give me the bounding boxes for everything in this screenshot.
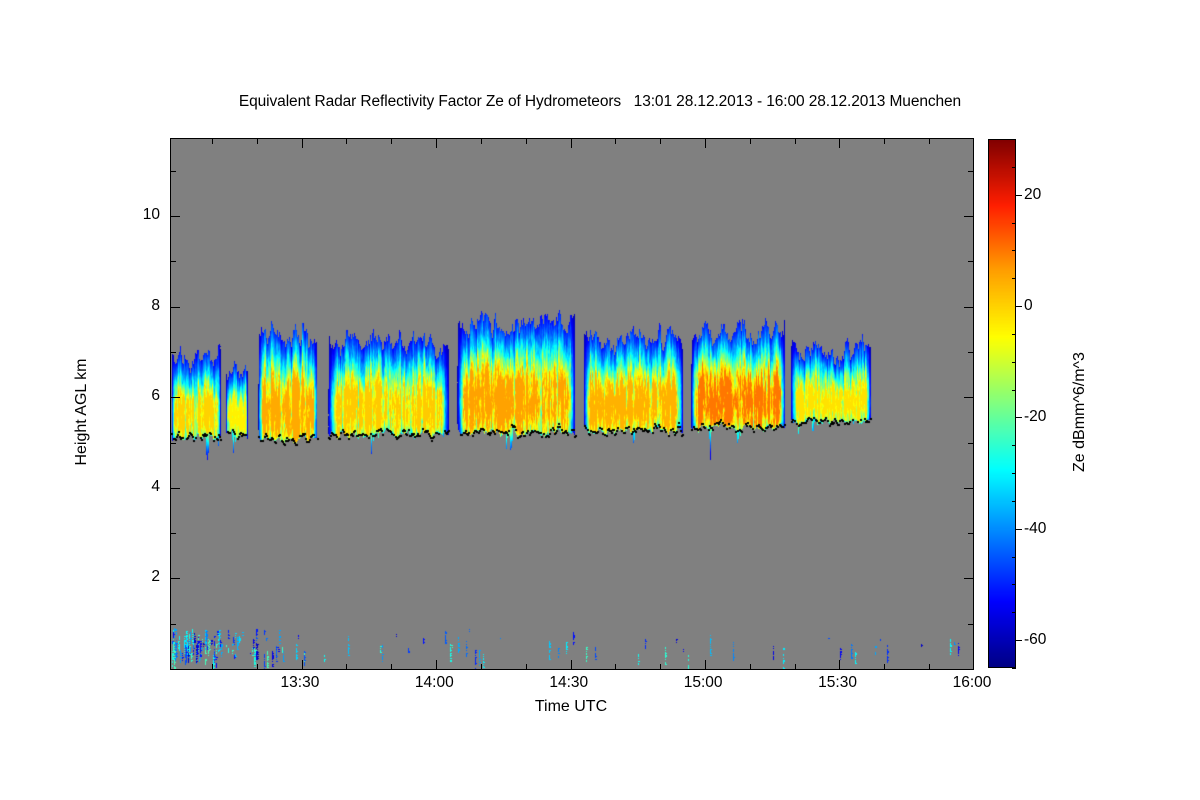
colorbar-tick <box>1012 362 1016 363</box>
x-tick-top <box>346 139 347 144</box>
x-tick-top <box>884 139 885 144</box>
y-tick-right <box>968 443 973 444</box>
colorbar-tick <box>1012 557 1016 558</box>
y-tick-right <box>964 307 973 308</box>
x-tick-bottom <box>257 664 258 669</box>
colorbar-tick <box>1016 640 1022 641</box>
x-tick-top <box>571 139 572 148</box>
colorbar-tick-label: 20 <box>1024 186 1041 204</box>
colorbar-tick <box>1012 668 1016 669</box>
x-tick-top <box>839 139 840 148</box>
colorbar-tick-label: -40 <box>1024 520 1046 538</box>
colorbar-tick <box>1012 167 1016 168</box>
x-tick-label: 15:00 <box>684 674 723 692</box>
colorbar-tick <box>1012 390 1016 391</box>
x-tick-bottom <box>884 664 885 669</box>
colorbar-tick <box>1016 417 1022 418</box>
colorbar-tick <box>1012 334 1016 335</box>
y-tick-right <box>968 171 973 172</box>
x-tick-top <box>526 139 527 144</box>
colorbar-tick <box>1012 473 1016 474</box>
colorbar-tick <box>1016 195 1022 196</box>
y-tick-right <box>968 533 973 534</box>
x-tick-label: 15:30 <box>818 674 857 692</box>
colorbar-title: Ze dBmm^6/m^3 <box>1071 262 1089 562</box>
x-tick-bottom <box>705 660 706 669</box>
x-tick-label: 16:00 <box>953 674 992 692</box>
y-tick-left <box>171 533 176 534</box>
plot-area <box>170 138 974 670</box>
y-tick-right <box>968 261 973 262</box>
y-tick-left <box>171 216 180 217</box>
x-tick-top <box>705 139 706 148</box>
y-tick-left <box>171 397 180 398</box>
y-tick-left <box>171 171 176 172</box>
x-tick-label: 14:30 <box>549 674 588 692</box>
y-tick-right <box>964 578 973 579</box>
x-tick-bottom <box>839 660 840 669</box>
colorbar-tick-label: 0 <box>1024 297 1033 315</box>
y-tick-left <box>171 488 180 489</box>
y-tick-left <box>171 624 176 625</box>
colorbar-tick <box>1012 501 1016 502</box>
colorbar-gradient <box>988 139 1016 668</box>
x-tick-label: 13:30 <box>281 674 320 692</box>
x-tick-top <box>660 139 661 144</box>
x-tick-bottom <box>929 664 930 669</box>
colorbar-tick <box>1012 445 1016 446</box>
x-tick-bottom <box>795 664 796 669</box>
colorbar-tick <box>1012 278 1016 279</box>
x-tick-top <box>615 139 616 144</box>
x-tick-bottom <box>660 664 661 669</box>
y-tick-right <box>968 624 973 625</box>
x-tick-top <box>481 139 482 144</box>
x-tick-bottom <box>302 660 303 669</box>
x-tick-bottom <box>391 664 392 669</box>
x-tick-top <box>795 139 796 144</box>
colorbar-tick-label: -60 <box>1024 631 1046 649</box>
radar-heatmap-canvas <box>171 139 973 669</box>
x-tick-top <box>257 139 258 144</box>
y-tick-left <box>171 443 176 444</box>
x-tick-bottom <box>212 664 213 669</box>
radar-reflectivity-figure: Equivalent Radar Reflectivity Factor Ze … <box>0 0 1200 800</box>
colorbar-tick <box>1012 612 1016 613</box>
colorbar-tick <box>1012 139 1016 140</box>
x-tick-bottom <box>615 664 616 669</box>
x-tick-top <box>302 139 303 148</box>
x-tick-bottom <box>436 660 437 669</box>
y-tick-label: 2 <box>151 568 160 586</box>
colorbar-tick <box>1012 223 1016 224</box>
y-tick-right <box>968 352 973 353</box>
colorbar-tick <box>1012 250 1016 251</box>
colorbar <box>988 139 1016 668</box>
y-tick-right <box>964 216 973 217</box>
colorbar-tick <box>1012 584 1016 585</box>
y-tick-label: 8 <box>151 297 160 315</box>
page-title: Equivalent Radar Reflectivity Factor Ze … <box>0 93 1200 111</box>
x-axis-title: Time UTC <box>170 698 972 716</box>
x-tick-bottom <box>571 660 572 669</box>
y-tick-label: 6 <box>151 387 160 405</box>
x-tick-bottom <box>481 664 482 669</box>
y-axis-title: Height AGL km <box>73 262 91 562</box>
y-tick-label: 10 <box>143 206 160 224</box>
colorbar-tick-label: -20 <box>1024 408 1046 426</box>
x-tick-bottom <box>750 664 751 669</box>
x-tick-top <box>436 139 437 148</box>
x-tick-bottom <box>526 664 527 669</box>
y-tick-left <box>171 307 180 308</box>
y-tick-right <box>964 488 973 489</box>
x-tick-label: 14:00 <box>415 674 454 692</box>
y-tick-left <box>171 261 176 262</box>
y-tick-label: 4 <box>151 478 160 496</box>
y-tick-left <box>171 352 176 353</box>
y-tick-left <box>171 578 180 579</box>
colorbar-tick <box>1016 306 1022 307</box>
x-tick-top <box>929 139 930 144</box>
colorbar-tick <box>1016 529 1022 530</box>
x-tick-top <box>212 139 213 144</box>
x-tick-top <box>750 139 751 144</box>
y-tick-right <box>964 397 973 398</box>
x-tick-top <box>391 139 392 144</box>
x-tick-bottom <box>346 664 347 669</box>
